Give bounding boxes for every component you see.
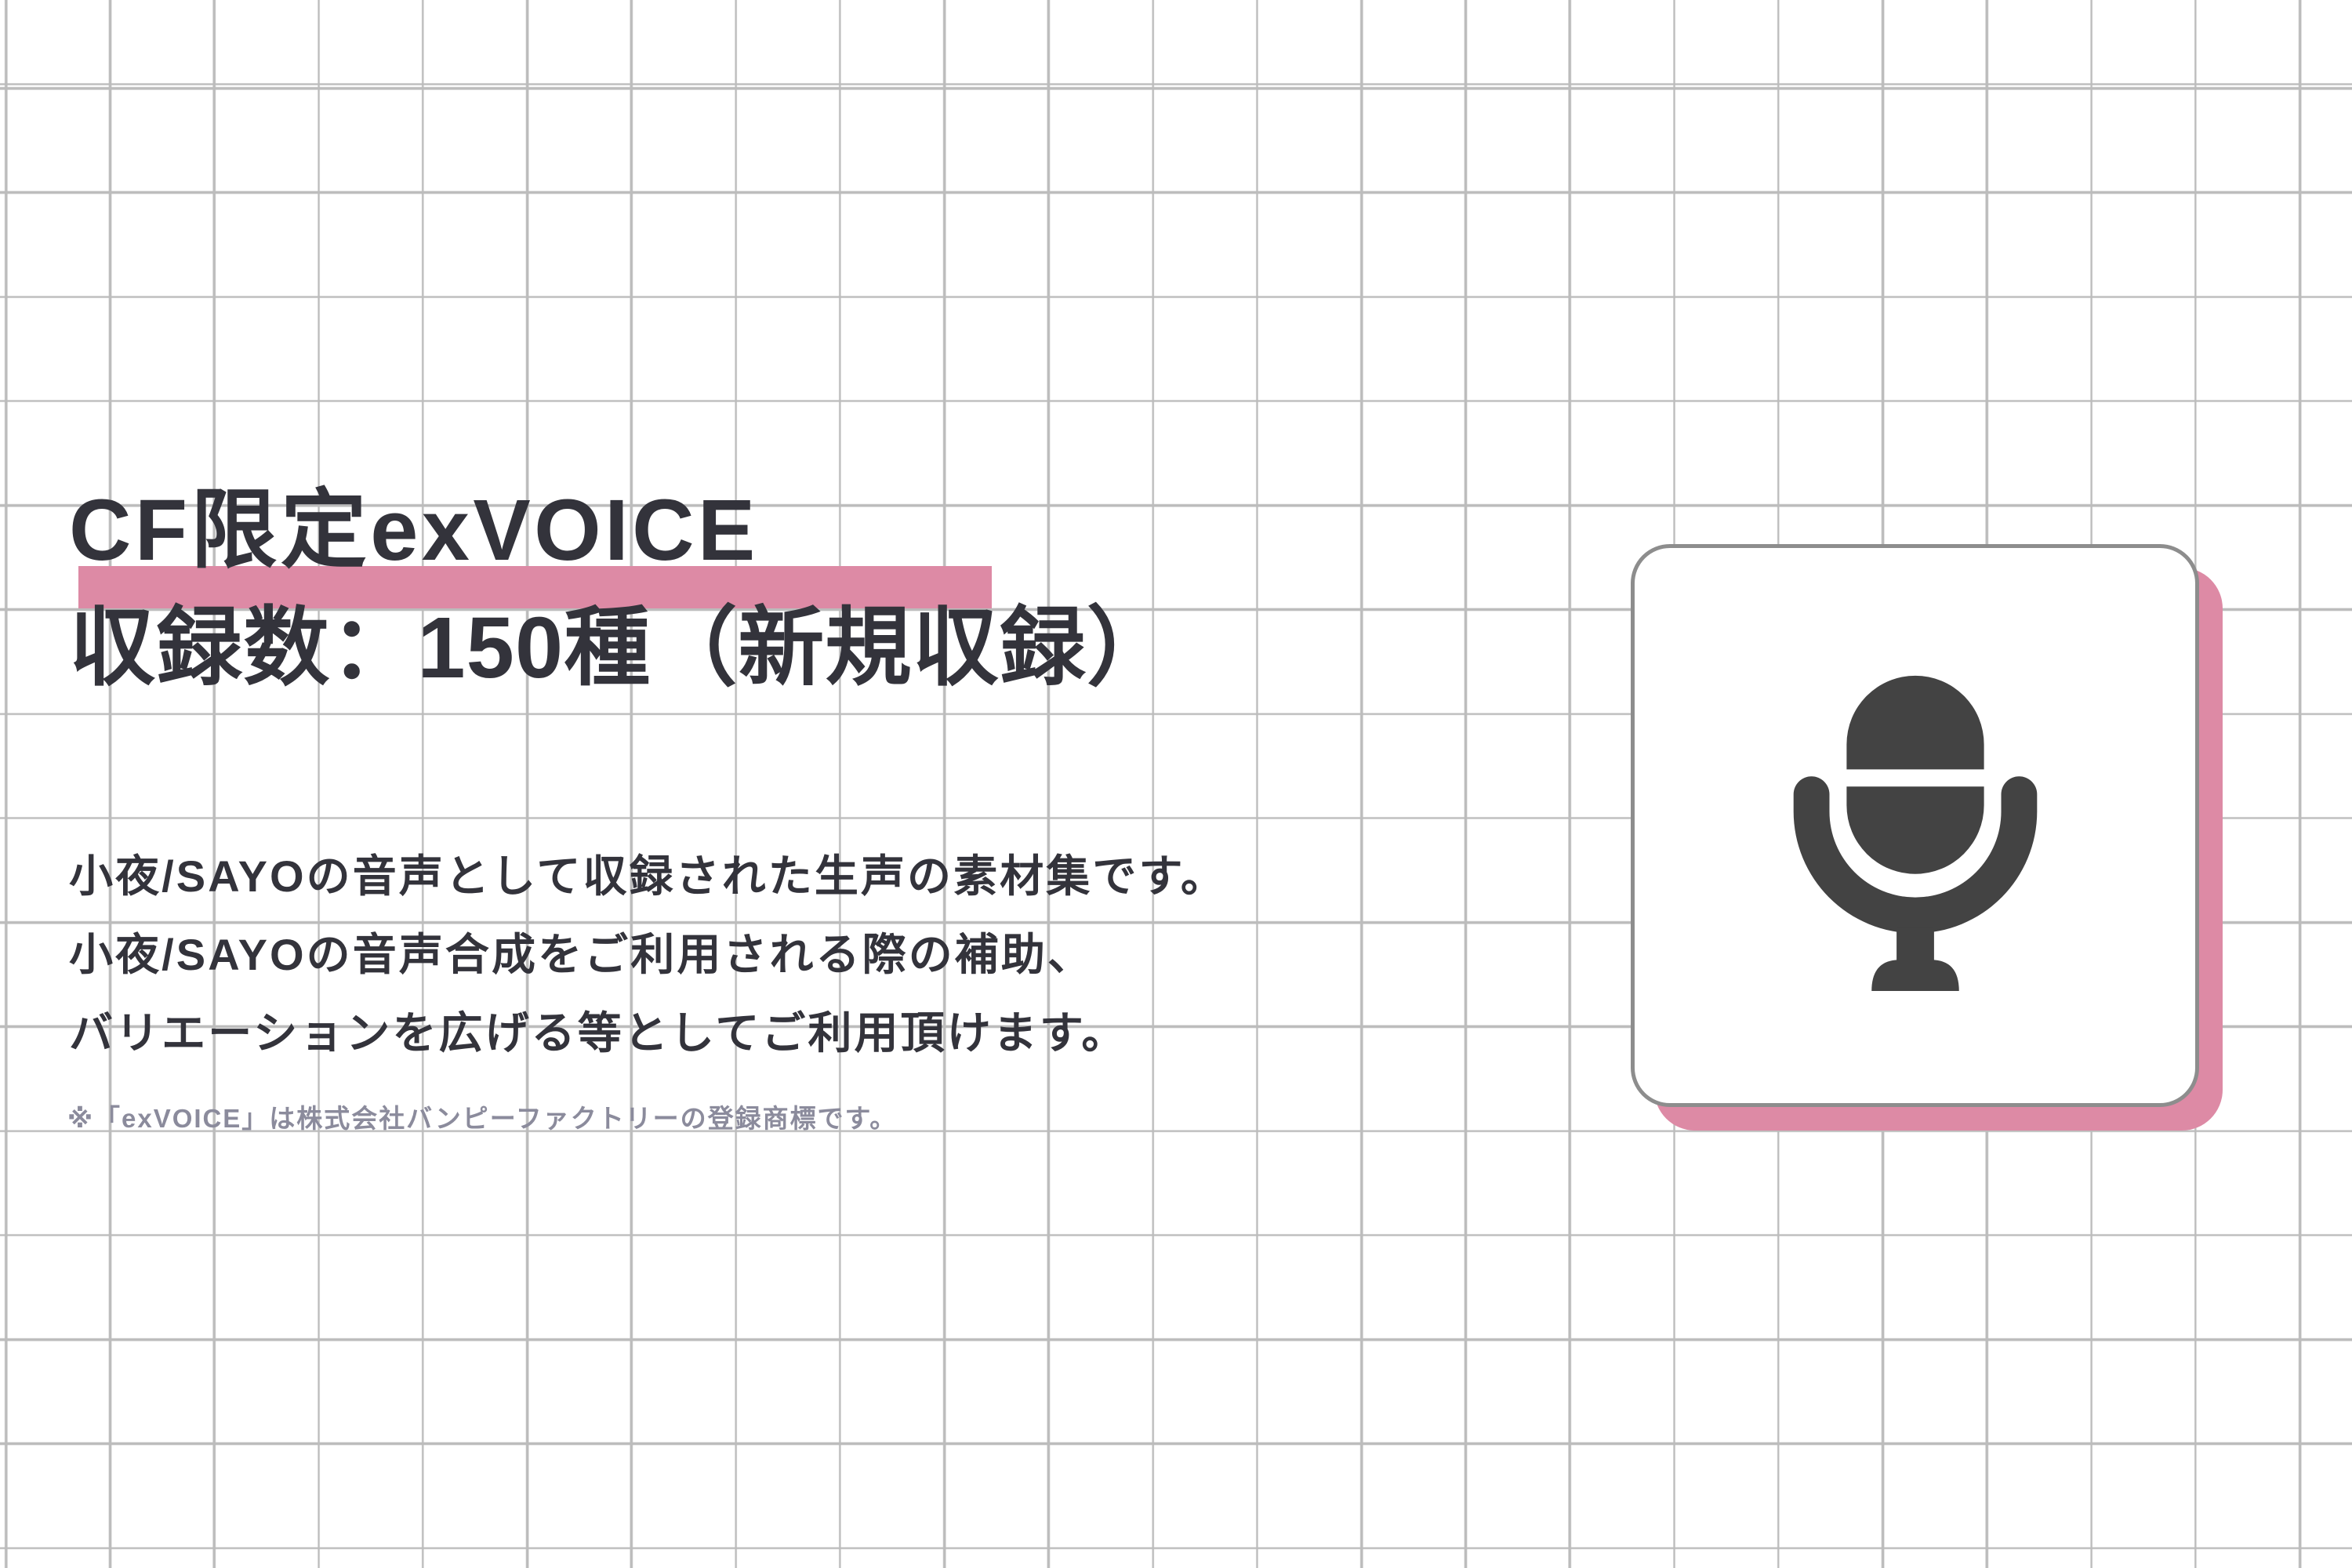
microphone-card <box>1631 544 2227 1136</box>
page-title: CF限定exVOICE <box>69 488 759 574</box>
description-line-2: 小夜/SAYOの音声合成をご利用される際の補助、 <box>69 916 1227 994</box>
description-line-3: バリエーションを広げる等としてご利用頂けます。 <box>69 994 1227 1073</box>
trademark-footnote: ※「exVOICE」は株式会社バンピーファクトリーの登録商標です。 <box>67 1098 897 1135</box>
slide-canvas: CF限定exVOICE 収録数：150種（新規収録） 小夜/SAYOの音声として… <box>0 0 2352 1568</box>
text-column: CF限定exVOICE 収録数：150種（新規収録） 小夜/SAYOの音声として… <box>0 0 1490 1568</box>
description-line-1: 小夜/SAYOの音声として収録された生声の素材集です。 <box>69 837 1227 916</box>
microphone-icon <box>1759 649 2072 1002</box>
page-subtitle: 収録数：150種（新規収録） <box>69 605 1174 691</box>
description-block: 小夜/SAYOの音声として収録された生声の素材集です。 小夜/SAYOの音声合成… <box>69 837 1227 1073</box>
card-surface <box>1631 544 2199 1107</box>
